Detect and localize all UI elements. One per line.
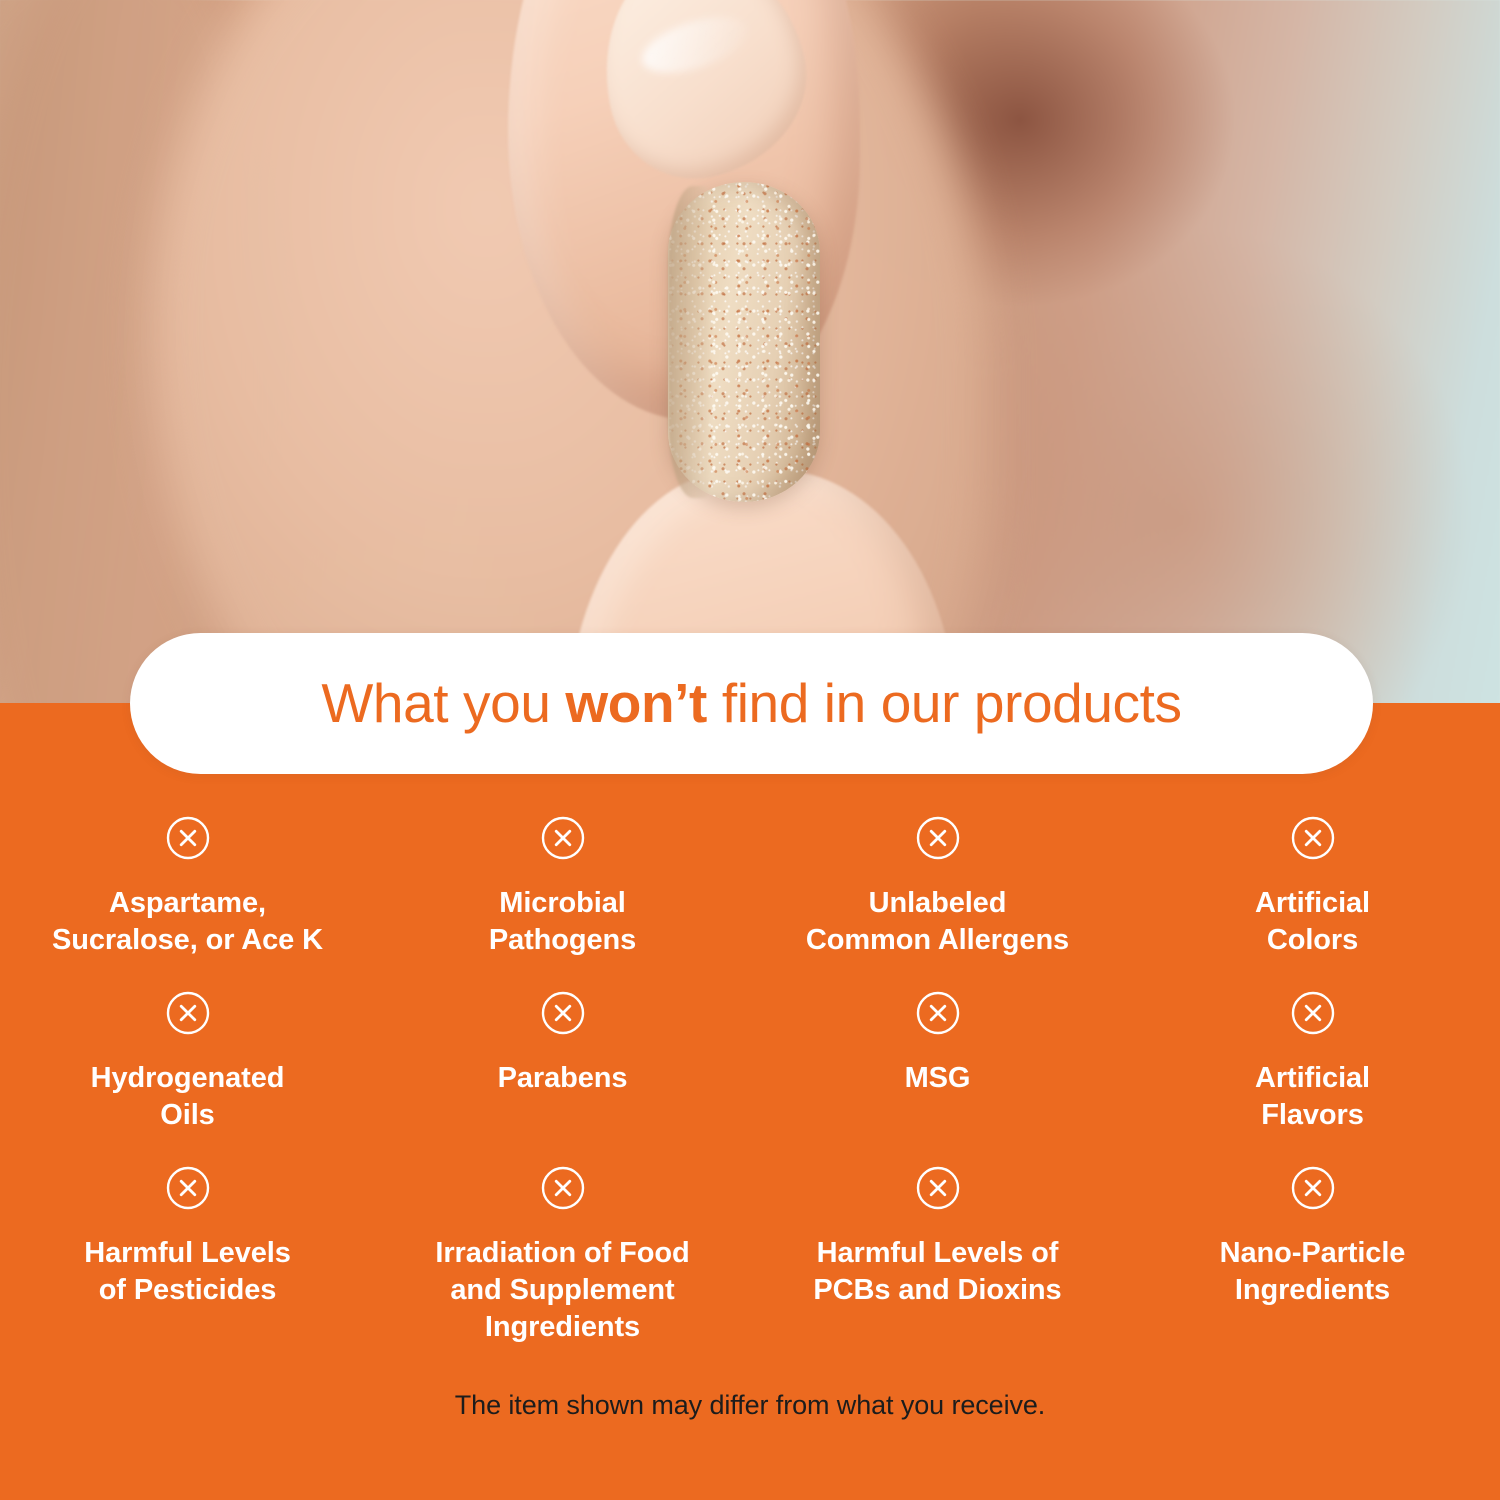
- excluded-item-label: Artificial Colors: [1255, 885, 1370, 959]
- excluded-item-label: Microbial Pathogens: [489, 885, 636, 959]
- circle-x-icon: [540, 990, 586, 1036]
- excluded-item-label: Harmful Levels of Pesticides: [84, 1235, 291, 1309]
- excluded-item-label: Hydrogenated Oils: [91, 1060, 285, 1134]
- excluded-items-grid: Aspartame, Sucralose, or Ace K Microbial…: [0, 815, 1500, 1365]
- circle-x-icon: [165, 990, 211, 1036]
- page-title: What you won’t find in our products: [321, 676, 1181, 731]
- product-claims-infographic: What you won’t find in our products Aspa…: [0, 0, 1500, 1500]
- excluded-items-row: Harmful Levels of Pesticides Irradiation…: [0, 1165, 1500, 1365]
- headline-part-1: What you: [321, 672, 565, 734]
- circle-x-icon: [1290, 1165, 1336, 1211]
- excluded-item-aspartame-sucralose-ace-k: Aspartame, Sucralose, or Ace K: [0, 815, 375, 993]
- headline-part-2: find in our products: [707, 672, 1182, 734]
- headline-emphasis: won’t: [565, 672, 707, 734]
- excluded-item-irradiation-of-food-and-supplement-ingredients: Irradiation of Food and Supplement Ingre…: [375, 1165, 750, 1365]
- excluded-item-label: Harmful Levels of PCBs and Dioxins: [813, 1235, 1061, 1309]
- excluded-item-msg: MSG: [750, 990, 1125, 1168]
- excluded-item-harmful-levels-of-pesticides: Harmful Levels of Pesticides: [0, 1165, 375, 1365]
- excluded-item-parabens: Parabens: [375, 990, 750, 1168]
- excluded-item-label: Unlabeled Common Allergens: [806, 885, 1069, 959]
- excluded-item-artificial-colors: Artificial Colors: [1125, 815, 1500, 993]
- excluded-item-label: Parabens: [498, 1060, 628, 1097]
- excluded-item-hydrogenated-oils: Hydrogenated Oils: [0, 990, 375, 1168]
- excluded-item-label: Irradiation of Food and Supplement Ingre…: [435, 1235, 689, 1346]
- circle-x-icon: [1290, 815, 1336, 861]
- excluded-item-label: Artificial Flavors: [1255, 1060, 1370, 1134]
- hand-holding-tablet-photo: [0, 0, 1500, 706]
- excluded-item-label: Aspartame, Sucralose, or Ace K: [52, 885, 323, 959]
- circle-x-icon: [165, 1165, 211, 1211]
- circle-x-icon: [915, 1165, 961, 1211]
- excluded-item-nano-particle-ingredients: Nano-Particle Ingredients: [1125, 1165, 1500, 1365]
- circle-x-icon: [915, 815, 961, 861]
- excluded-item-label: MSG: [905, 1060, 971, 1097]
- excluded-item-microbial-pathogens: Microbial Pathogens: [375, 815, 750, 993]
- disclaimer-text: The item shown may differ from what you …: [0, 1390, 1500, 1421]
- excluded-item-harmful-levels-of-pcbs-and-dioxins: Harmful Levels of PCBs and Dioxins: [750, 1165, 1125, 1365]
- excluded-items-row: Hydrogenated Oils Parabens MSG Artificia…: [0, 990, 1500, 1168]
- excluded-item-artificial-flavors: Artificial Flavors: [1125, 990, 1500, 1168]
- tablet-edge-shading: [668, 186, 710, 498]
- excluded-items-row: Aspartame, Sucralose, or Ace K Microbial…: [0, 815, 1500, 993]
- headline-pill: What you won’t find in our products: [130, 633, 1373, 774]
- circle-x-icon: [1290, 990, 1336, 1036]
- excluded-item-label: Nano-Particle Ingredients: [1220, 1235, 1406, 1309]
- supplement-tablet: [668, 182, 820, 502]
- circle-x-icon: [165, 815, 211, 861]
- circle-x-icon: [540, 1165, 586, 1211]
- circle-x-icon: [540, 815, 586, 861]
- circle-x-icon: [915, 990, 961, 1036]
- excluded-item-unlabeled-common-allergens: Unlabeled Common Allergens: [750, 815, 1125, 993]
